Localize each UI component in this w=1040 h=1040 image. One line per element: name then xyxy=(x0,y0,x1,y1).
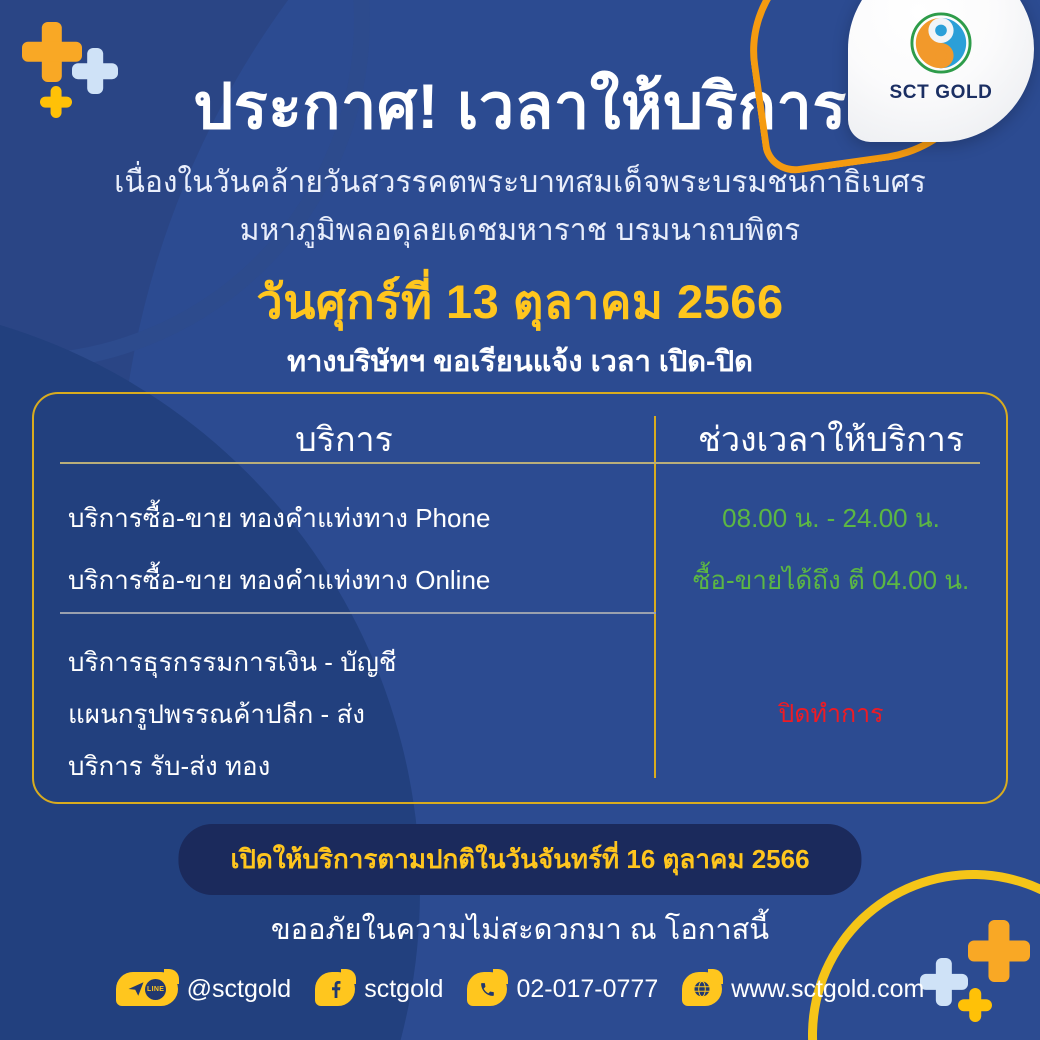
phone-icon xyxy=(467,972,507,1006)
table-section-rule xyxy=(60,612,656,614)
globe-icon xyxy=(682,972,722,1006)
table-row: บริการธุรกรรมการเงิน - บัญชี xyxy=(68,642,397,683)
line-icon: LINE xyxy=(116,972,178,1006)
table-row: บริการซื้อ-ขาย ทองคำแท่งทาง Phone xyxy=(68,498,490,539)
table-row: แผนกรูปพรรณค้าปลีก - ส่ง xyxy=(68,694,365,735)
contact-label: sctgold xyxy=(364,975,443,1004)
subtitle-line-2: มหาภูมิพลอดุลยเดชมหาราช บรมนาถบพิตร xyxy=(0,212,1040,250)
line-badge-icon: LINE xyxy=(145,979,166,1000)
brand-logo: SCT GOLD xyxy=(848,0,1034,142)
contact-line[interactable]: LINE @sctgold xyxy=(116,972,292,1006)
service-hours-table: บริการ ช่วงเวลาให้บริการ บริการซื้อ-ขาย … xyxy=(32,392,1008,804)
sct-gold-emblem-icon xyxy=(910,12,972,74)
table-row: บริการ รับ-ส่ง ทอง xyxy=(68,746,270,787)
notice-text: ทางบริษัทฯ ขอเรียนแจ้ง เวลา เปิด-ปิด xyxy=(0,338,1040,384)
contact-label: @sctgold xyxy=(187,975,292,1004)
subtitle-line-1: เนื่องในวันคล้ายวันสวรรคตพระบาทสมเด็จพระ… xyxy=(0,164,1040,202)
table-row: บริการซื้อ-ขาย ทองคำแท่งทาง Online xyxy=(68,560,490,601)
column-header-service: บริการ xyxy=(34,412,654,466)
column-header-hours: ช่วงเวลาให้บริการ xyxy=(654,412,1008,466)
contact-label: www.sctgold.com xyxy=(731,975,924,1004)
contact-website[interactable]: www.sctgold.com xyxy=(682,972,924,1006)
contact-bar: LINE @sctgold sctgold 02-017-0777 xyxy=(0,972,1040,1006)
status-badge: ปิดทำการ xyxy=(654,694,1008,734)
holiday-date: วันศุกร์ที่ 13 ตุลาคม 2566 xyxy=(0,264,1040,339)
contact-phone[interactable]: 02-017-0777 xyxy=(467,972,658,1006)
apology-text: ขออภัยในความไม่สะดวกมา ณ โอกาสนี้ xyxy=(0,906,1040,952)
logo-wordmark: SCT GOLD xyxy=(848,82,1034,104)
contact-label: 02-017-0777 xyxy=(516,975,658,1004)
service-hours-value: 08.00 น. - 24.00 น. xyxy=(654,498,1008,539)
facebook-icon xyxy=(315,972,355,1006)
announcement-poster: SCT GOLD ประกาศ! เวลาให้บริการ เนื่องในว… xyxy=(0,0,1040,1040)
contact-facebook[interactable]: sctgold xyxy=(315,972,443,1006)
service-hours-value: ซื้อ-ขายได้ถึง ตี 04.00 น. xyxy=(654,560,1008,601)
reopen-banner: เปิดให้บริการตามปกติในวันจันทร์ที่ 16 ตุ… xyxy=(178,824,861,895)
